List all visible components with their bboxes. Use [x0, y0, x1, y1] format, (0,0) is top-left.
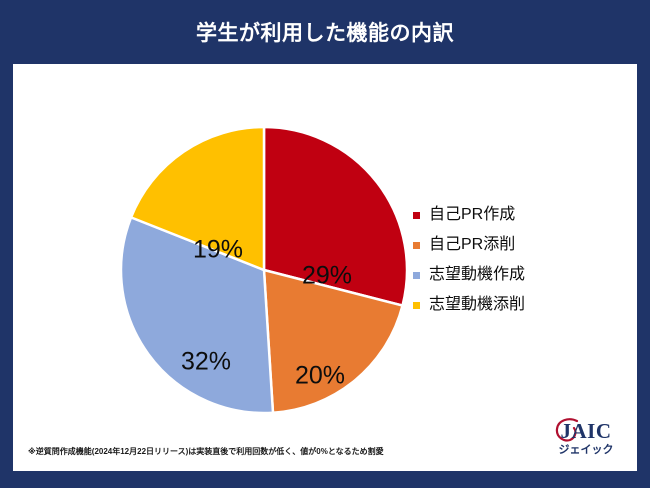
slide-root: 学生が利用した機能の内訳 29%20%32%19% 自己PR作成自己PR添削志望… — [0, 0, 650, 488]
legend-swatch-icon — [413, 272, 420, 279]
legend-item[interactable]: 自己PR添削 — [413, 230, 623, 260]
pie-slice-label: 20% — [295, 364, 345, 389]
legend-item[interactable]: 志望動機添削 — [413, 290, 623, 320]
page-title: 学生が利用した機能の内訳 — [0, 20, 650, 48]
legend-swatch-icon — [413, 212, 420, 219]
legend-item-label: 自己PR添削 — [429, 235, 515, 255]
footnote-text: ※逆質問作成機能(2024年12月22日リリース)は実装直後で利用回数が低く、値… — [28, 446, 384, 457]
legend-item[interactable]: 自己PR作成 — [413, 200, 623, 230]
legend-swatch-icon — [413, 242, 420, 249]
pie-chart-svg — [119, 125, 409, 415]
legend-item-label: 自己PR作成 — [429, 205, 515, 225]
pie-chart: 29%20%32%19% — [13, 64, 413, 424]
pie-slice-group — [121, 127, 407, 413]
logo-subtext: ジェイック — [547, 443, 625, 457]
legend-item[interactable]: 志望動機作成 — [413, 260, 623, 290]
pie-slice-label: 19% — [193, 238, 243, 263]
legend-item-label: 志望動機作成 — [429, 265, 525, 285]
logo-wordmark: JAIC — [547, 419, 625, 443]
legend-item-label: 志望動機添削 — [429, 295, 525, 315]
brand-logo: JAIC ジェイック — [547, 417, 625, 463]
pie-slice-label: 29% — [302, 264, 352, 289]
content-card: 29%20%32%19% 自己PR作成自己PR添削志望動機作成志望動機添削 ※逆… — [13, 64, 637, 471]
pie-slice-label: 32% — [181, 350, 231, 375]
legend-swatch-icon — [413, 302, 420, 309]
chart-legend: 自己PR作成自己PR添削志望動機作成志望動機添削 — [413, 200, 623, 320]
